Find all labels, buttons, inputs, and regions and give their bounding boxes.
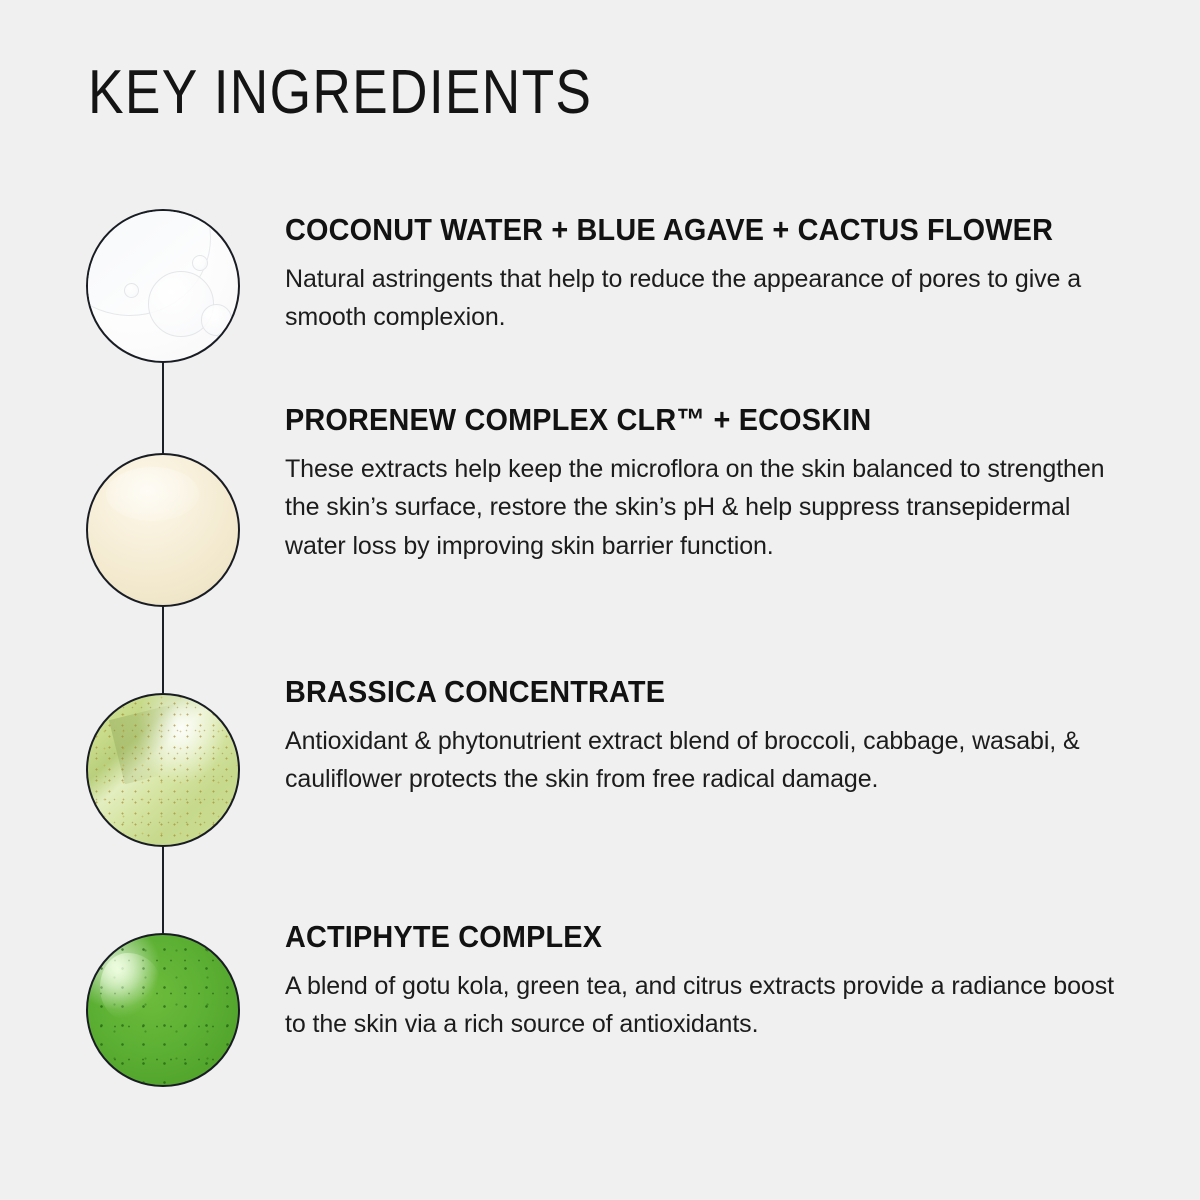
connector-line-1: [162, 357, 164, 455]
connector-line-3: [162, 841, 164, 939]
ingredient-item: BRASSICA CONCENTRATE Antioxidant & phyto…: [285, 675, 1130, 799]
green-swatch: [86, 933, 240, 1087]
ingredient-item: ACTIPHYTE COMPLEX A blend of gotu kola, …: [285, 920, 1130, 1044]
page-title: KEY INGREDIENTS: [88, 62, 592, 124]
clear-gel-swatch: [86, 209, 240, 363]
bubble-icon: [192, 255, 209, 272]
speckle-texture: [88, 695, 238, 845]
ingredient-heading: ACTIPHYTE COMPLEX: [285, 920, 1071, 955]
ingredient-description: Antioxidant & phytonutrient extract blen…: [285, 722, 1130, 799]
cream-swatch: [86, 453, 240, 607]
ingredient-description: These extracts help keep the microflora …: [285, 450, 1130, 566]
bubble-icon: [217, 333, 226, 342]
key-ingredients-page: KEY INGREDIENTS COCONUT WATER + BLUE AGA…: [0, 0, 1200, 1200]
ingredient-item: PRORENEW COMPLEX CLR™ + ECOSKIN These ex…: [285, 403, 1130, 565]
connector-line-2: [162, 601, 164, 699]
ingredient-heading: COCONUT WATER + BLUE AGAVE + CACTUS FLOW…: [285, 213, 1071, 248]
pistachio-swatch: [86, 693, 240, 847]
bubble-icon: [201, 304, 233, 336]
ingredient-description: Natural astringents that help to reduce …: [285, 260, 1130, 337]
bubble-icon: [124, 283, 139, 298]
ingredient-heading: PRORENEW COMPLEX CLR™ + ECOSKIN: [285, 403, 1071, 438]
ingredient-item: COCONUT WATER + BLUE AGAVE + CACTUS FLOW…: [285, 213, 1130, 337]
ingredient-heading: BRASSICA CONCENTRATE: [285, 675, 1071, 710]
ingredient-description: A blend of gotu kola, green tea, and cit…: [285, 967, 1130, 1044]
ingredient-swatch-rail: [86, 205, 246, 1105]
